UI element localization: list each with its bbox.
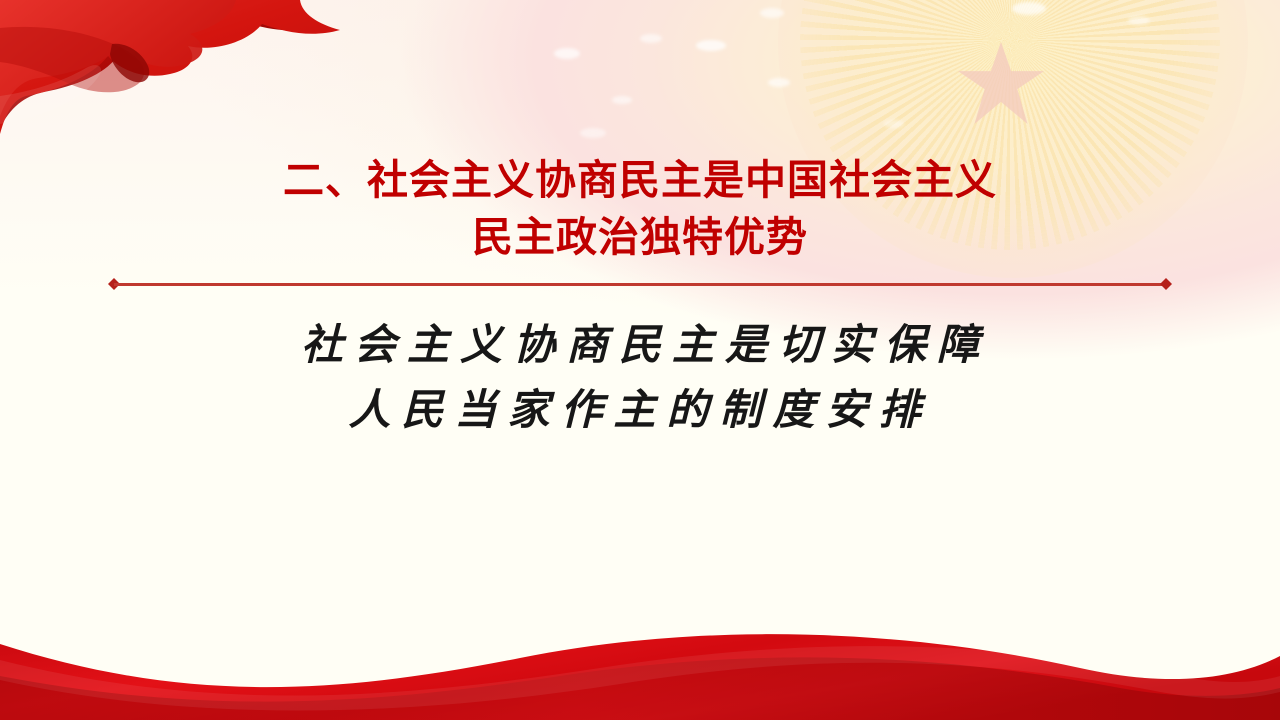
presentation-slide: 二、社会主义协商民主是中国社会主义 民主政治独特优势 社会主义协商民主是切实保障…	[0, 0, 1280, 720]
title-divider	[108, 278, 1172, 290]
page-title: 二、社会主义协商民主是中国社会主义 民主政治独特优势	[0, 152, 1280, 266]
subtitle-text: 社会主义协商民主是切实保障 人民当家作主的制度安排	[0, 312, 1280, 442]
divider-line	[114, 283, 1166, 286]
divider-diamond-icon	[1160, 278, 1172, 290]
